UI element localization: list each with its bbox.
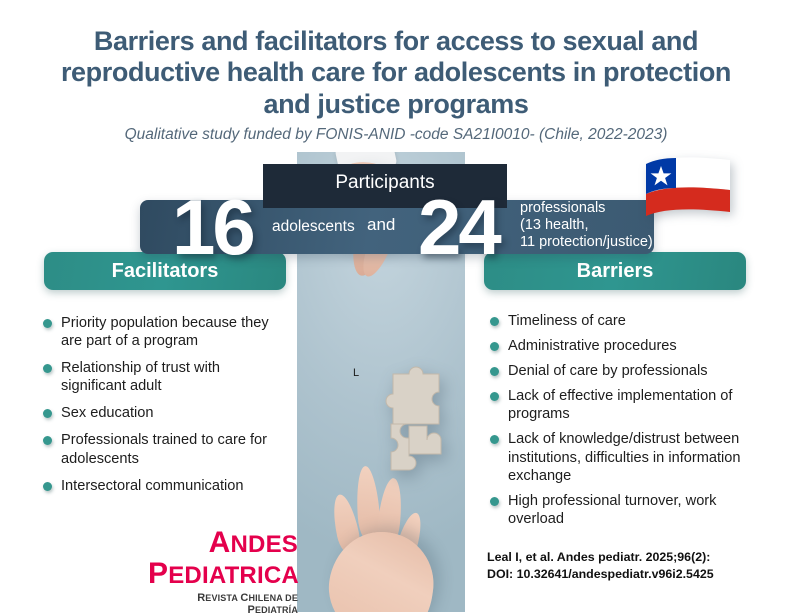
list-item: Intersectoral communication xyxy=(41,477,277,495)
tagline-rest-2: HILENA DE xyxy=(248,593,298,603)
list-item: Relationship of trust with significant a… xyxy=(41,359,277,395)
adolescents-count: 16 xyxy=(172,188,253,266)
professionals-label: professionals (13 health, 11 protection/… xyxy=(520,200,653,251)
citation-block: Leal I, et al. Andes pediatr. 2025;96(2)… xyxy=(487,549,777,582)
professionals-count: 24 xyxy=(418,188,499,266)
chile-flag-icon xyxy=(644,156,732,218)
list-item: Sex education xyxy=(41,404,277,422)
logo-cap-a: A xyxy=(209,526,231,559)
list-item: Professionals trained to care for adoles… xyxy=(41,431,277,467)
logo-cap-p: P xyxy=(148,557,168,590)
citation-line-2: DOI: 10.32641/andespediatr.v96i2.5425 xyxy=(487,566,777,583)
photo-watermark: L xyxy=(353,367,359,379)
logo-line-pediatrica: PEDIATRICA xyxy=(148,559,298,589)
barriers-header: Barriers xyxy=(484,252,746,290)
andes-pediatrica-logo: ANDES PEDIATRICA REVISTA CHILENA DE PEDI… xyxy=(148,528,298,616)
tagline-cap-p: P xyxy=(247,604,255,616)
page-title: Barriers and facilitators for access to … xyxy=(36,26,756,120)
barriers-list: Timeliness of care Administrative proced… xyxy=(470,312,765,535)
page-subtitle: Qualitative study funded by FONIS-ANID -… xyxy=(36,126,756,144)
adolescents-label: adolescents xyxy=(272,218,355,236)
facilitators-list: Priority population because they are par… xyxy=(27,314,289,504)
list-item: Denial of care by professionals xyxy=(488,362,755,380)
logo-tagline: REVISTA CHILENA DE PEDIATRÍA xyxy=(148,592,298,616)
list-item: Lack of knowledge/distrust between insti… xyxy=(488,430,755,484)
logo-rest-pediatrica: EDIATRICA xyxy=(168,562,299,589)
list-item: Administrative procedures xyxy=(488,337,755,355)
professionals-label-line2: (13 health, xyxy=(520,217,653,234)
logo-rest-andes: NDES xyxy=(231,531,298,558)
conjunction-label: and xyxy=(367,215,395,235)
tagline-rest-3: EDIATRÍA xyxy=(255,605,298,615)
list-item: High professional turnover, work overloa… xyxy=(488,492,755,528)
professionals-label-line3: 11 protection/justice) xyxy=(520,234,653,251)
citation-line-1: Leal I, et al. Andes pediatr. 2025;96(2)… xyxy=(487,549,777,566)
logo-line-andes: ANDES xyxy=(148,528,298,558)
professionals-label-line1: professionals xyxy=(520,200,653,217)
list-item: Timeliness of care xyxy=(488,312,755,330)
list-item: Priority population because they are par… xyxy=(41,314,277,350)
list-item: Lack of effective implementation of prog… xyxy=(488,387,755,423)
tagline-rest-1: EVISTA xyxy=(205,593,240,603)
puzzle-pieces-icon xyxy=(373,364,455,484)
facilitators-card: Facilitators Priority population because… xyxy=(27,272,289,510)
barriers-card: Barriers Timeliness of care Administrati… xyxy=(470,272,765,525)
